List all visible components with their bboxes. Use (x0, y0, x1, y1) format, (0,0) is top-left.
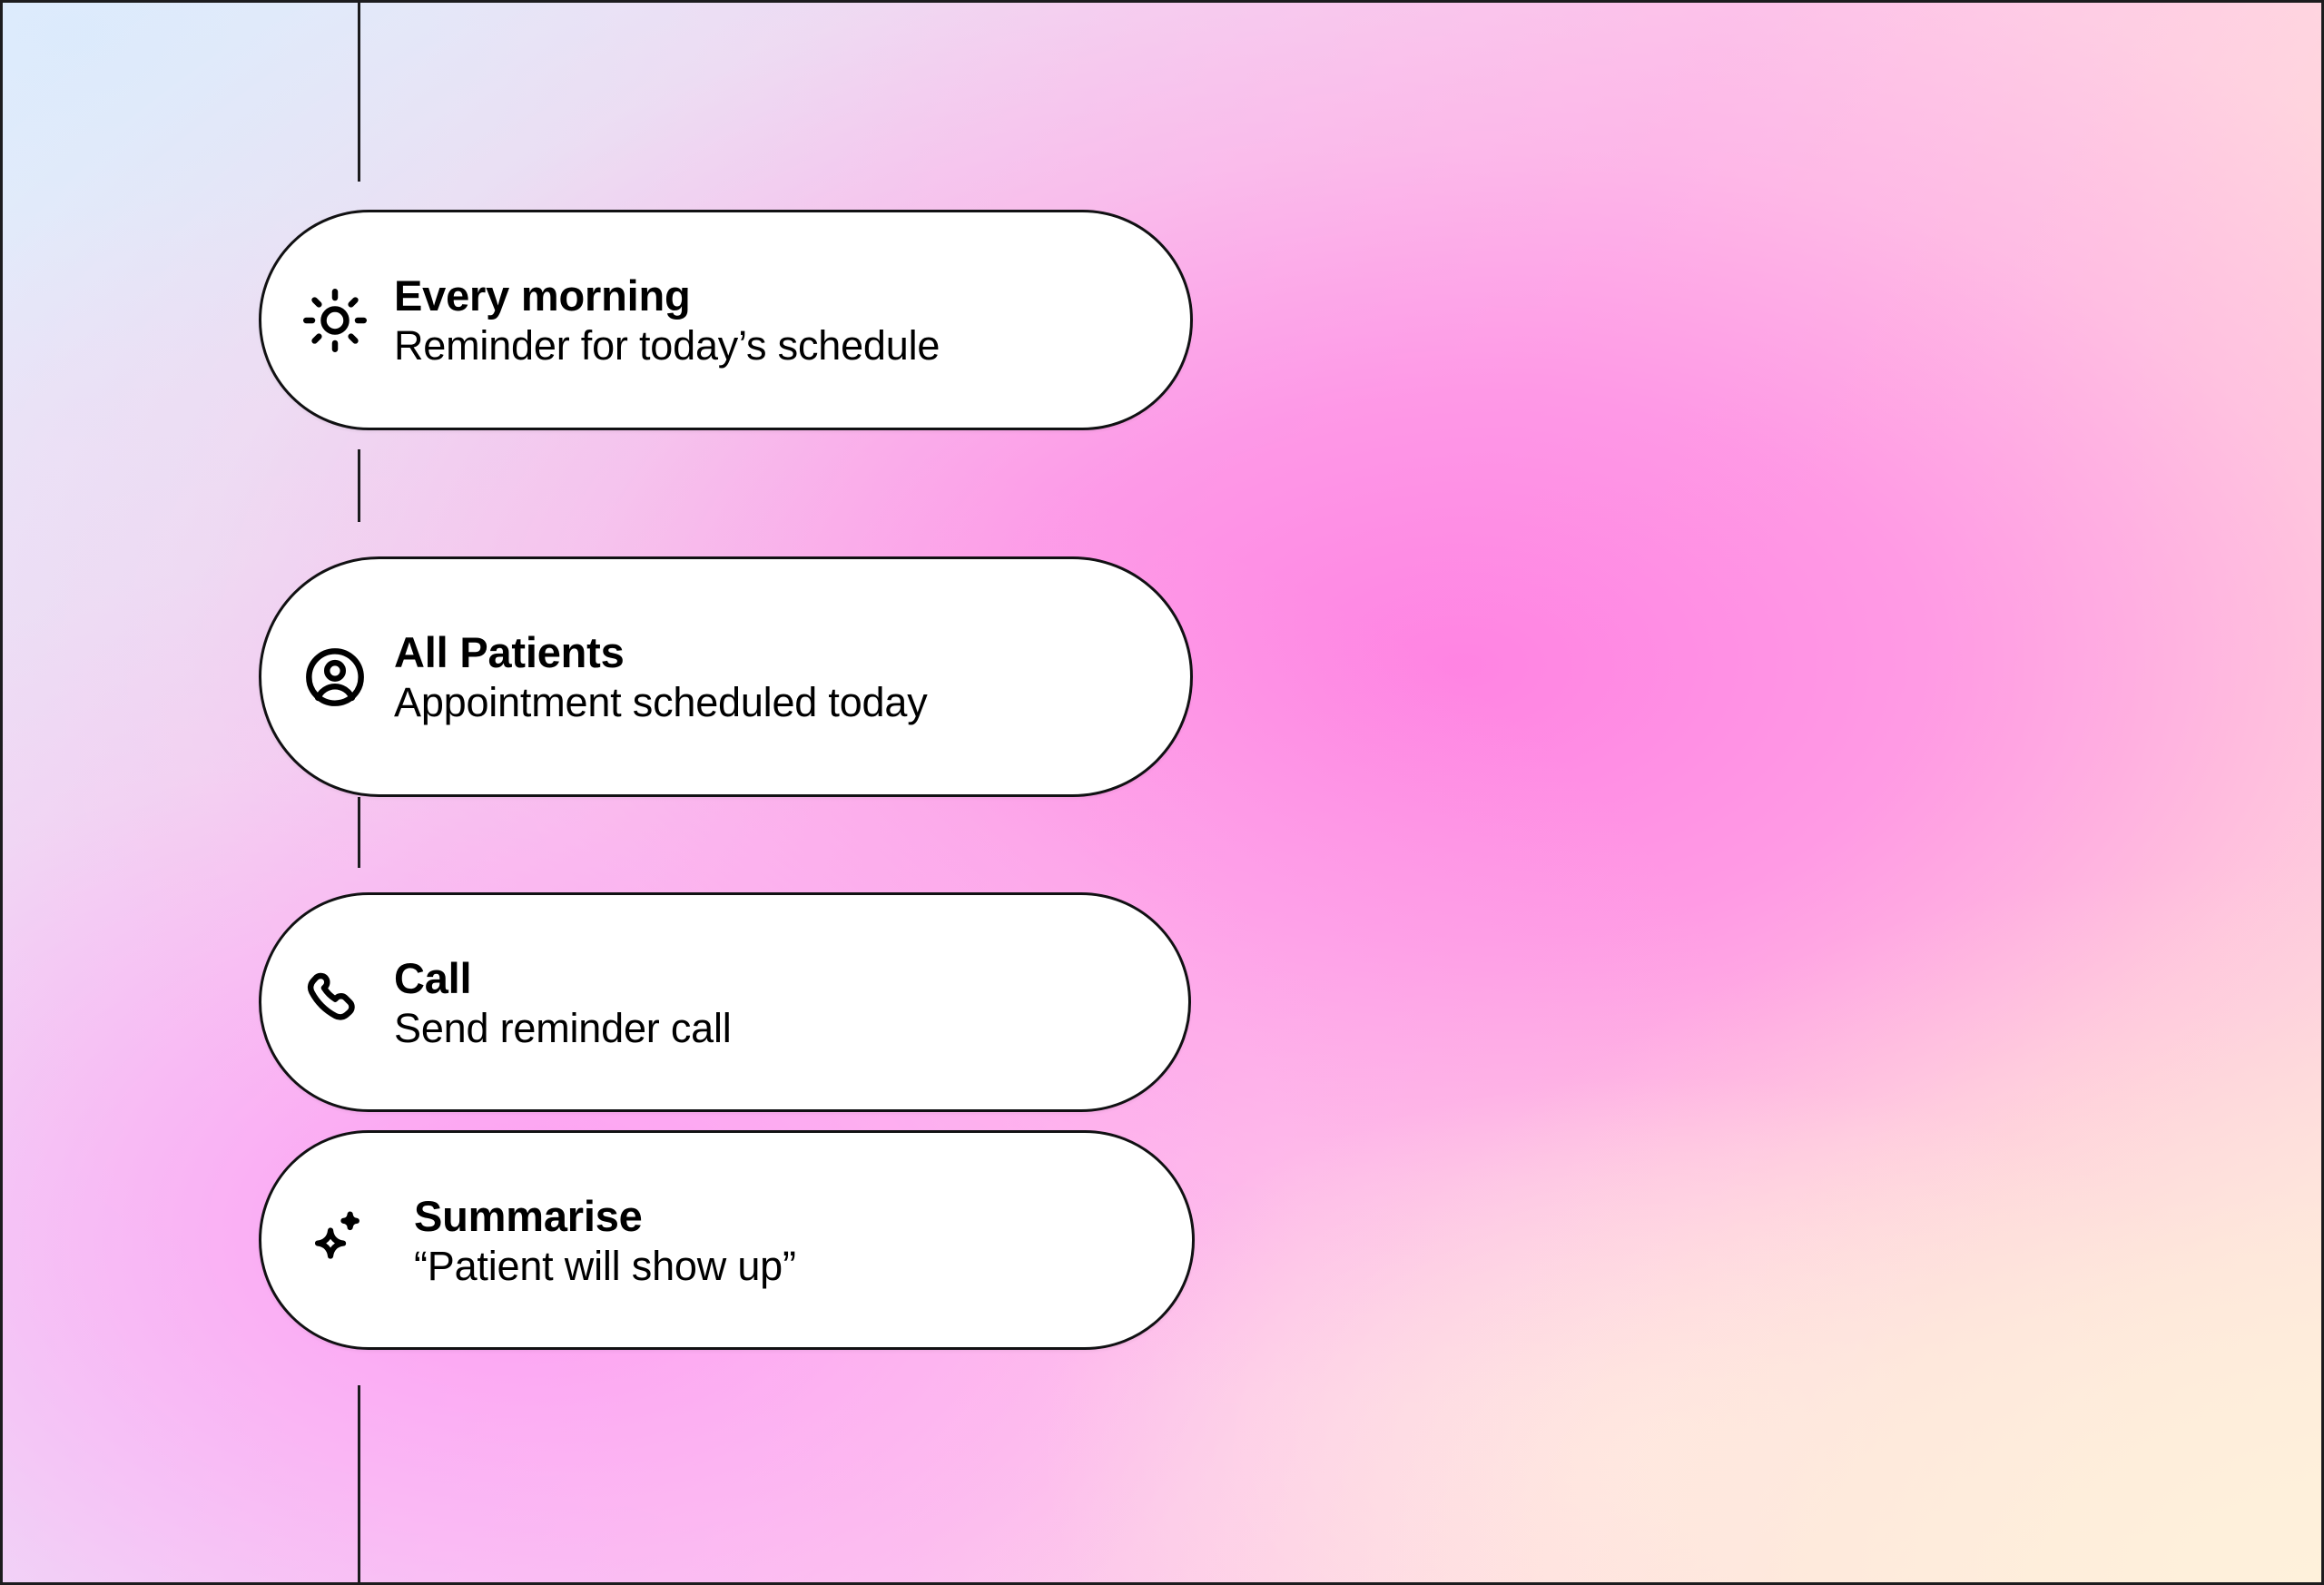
flow-step-title: All Patients (394, 631, 928, 674)
flow-step-call[interactable]: Call Send reminder call (259, 892, 1191, 1112)
user-circle-icon (301, 644, 369, 711)
flow-step-subtitle: Appointment scheduled today (394, 682, 928, 723)
flow-step-all-patients[interactable]: All Patients Appointment scheduled today (259, 556, 1193, 797)
workflow-canvas: Every morning Reminder for today’s sched… (0, 0, 2324, 1585)
connector-line-bottom (358, 1385, 360, 1585)
flow-step-text: Call Send reminder call (394, 957, 732, 1048)
flow-step-title: Every morning (394, 274, 940, 317)
flow-step-text: Summarise “Patient will show up” (414, 1195, 796, 1286)
flow-step-text: Every morning Reminder for today’s sched… (394, 274, 940, 366)
flow-step-subtitle: Send reminder call (394, 1008, 732, 1048)
phone-icon (301, 969, 369, 1036)
flow-step-summarise[interactable]: Summarise “Patient will show up” (259, 1130, 1195, 1350)
flow-step-subtitle: “Patient will show up” (414, 1245, 796, 1286)
sparkle-icon (301, 1206, 369, 1274)
flow-step-every-morning[interactable]: Every morning Reminder for today’s sched… (259, 210, 1193, 430)
flow-step-title: Summarise (414, 1195, 796, 1237)
flow-step-subtitle: Reminder for today’s schedule (394, 325, 940, 366)
flow-step-text: All Patients Appointment scheduled today (394, 631, 928, 723)
connector-line-top (358, 3, 360, 182)
connector-line-1-2 (358, 449, 360, 522)
sun-icon (301, 287, 369, 354)
flow-step-title: Call (394, 957, 732, 999)
connector-line-2-3 (358, 797, 360, 868)
